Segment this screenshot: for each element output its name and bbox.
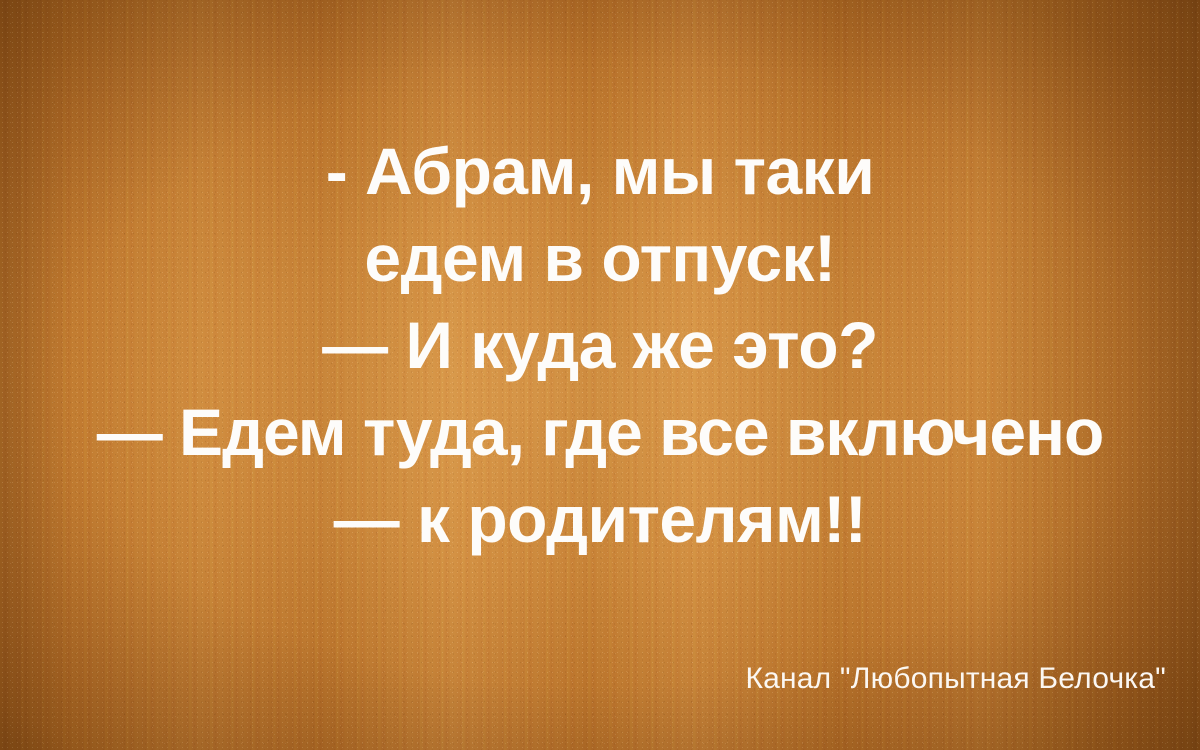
meme-card: - Абрам, мы таки едем в отпуск! — И куда… bbox=[0, 0, 1200, 750]
quote-line-2: едем в отпуск! bbox=[0, 215, 1200, 302]
quote-line-1: - Абрам, мы таки bbox=[0, 128, 1200, 215]
quote-line-4: — Едем туда, где все включено bbox=[0, 389, 1200, 476]
quote-line-3: — И куда же это? bbox=[0, 302, 1200, 389]
quote-text-block: - Абрам, мы таки едем в отпуск! — И куда… bbox=[0, 128, 1200, 563]
quote-line-5: — к родителям!! bbox=[0, 476, 1200, 563]
channel-attribution: Канал "Любопытная Белочка" bbox=[745, 662, 1166, 696]
